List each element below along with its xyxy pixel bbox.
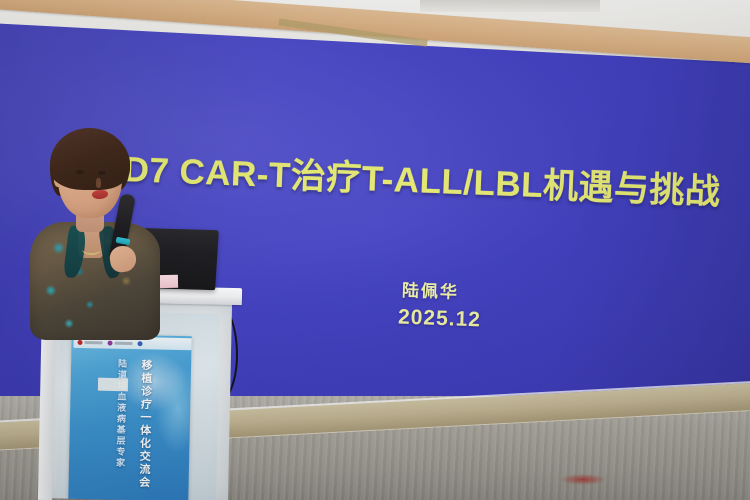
eye-left — [76, 170, 84, 174]
logo-purple-icon — [108, 340, 133, 346]
nose — [96, 178, 101, 188]
podium-note-paper — [98, 378, 128, 392]
presenter — [14, 126, 189, 326]
conference-photo: CD7 CAR-T治疗T-ALL/LBL机遇与挑战 陆佩华 2025.12 移植… — [0, 0, 750, 500]
slide-date: 2025.12 — [398, 306, 482, 333]
banner-sub-text: 陆道培血液病基层专家 — [112, 359, 129, 469]
floor-red-mark — [560, 474, 606, 485]
logo-blue-icon — [138, 341, 143, 346]
presenter-hair — [50, 128, 130, 190]
banner-main-text: 移植诊疗一体化交流会 — [136, 359, 154, 489]
eye-right — [98, 171, 106, 175]
podium-banner: 移植诊疗一体化交流会 陆道培血液病基层专家 — [68, 334, 191, 500]
ceiling-shadow — [420, 0, 600, 12]
logo-red-icon — [78, 339, 103, 345]
necklace — [82, 244, 101, 255]
slide-speaker-name: 陆佩华 — [402, 276, 460, 303]
